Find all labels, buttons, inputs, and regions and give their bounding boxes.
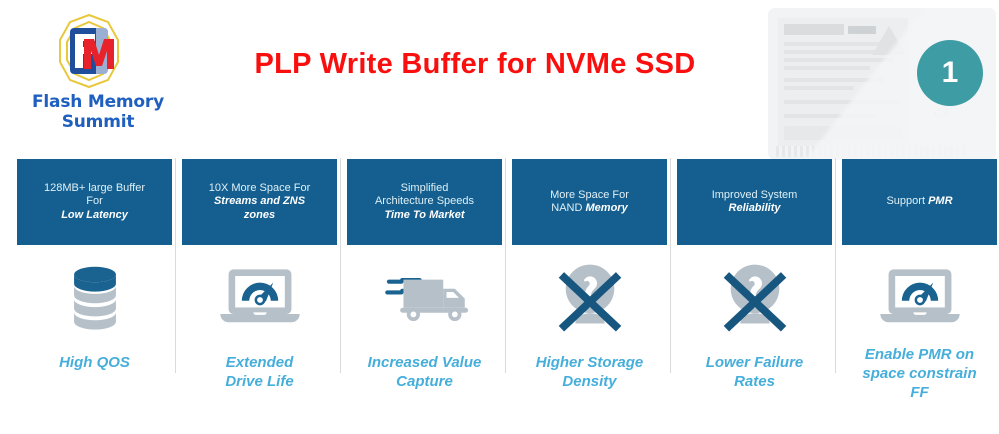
benefit-column-3: Simplified Architecture Speeds Time To M… — [343, 155, 506, 434]
benefit-line-emphasis: PMR — [928, 195, 952, 207]
question-mark-crossed-out-icon — [512, 253, 667, 341]
benefit-line-emphasis: Reliability — [729, 202, 781, 214]
benefit-line: Simplified — [401, 182, 449, 194]
brand-logo: Flash Memory Summit — [8, 8, 188, 118]
benefit-header-6: Support PMR — [842, 159, 997, 245]
benefit-line: Architecture Speeds — [375, 195, 474, 207]
benefit-line-emphasis: Memory — [586, 202, 628, 214]
benefit-line: 10X More Space For — [209, 182, 311, 194]
benefit-column-6: Support PMR Enable PMR on space constrai… — [838, 155, 999, 434]
benefit-column-5: Improved System Reliability Lower Failur… — [673, 155, 836, 434]
question-mark-crossed-out-icon — [677, 253, 832, 341]
benefit-header-2: 10X More Space For Streams and ZNS zones — [182, 159, 337, 245]
benefit-line: More Space For — [550, 189, 629, 201]
benefit-caption-1: High QOS — [13, 353, 176, 372]
benefit-caption-6: Enable PMR on space constrain FF — [838, 345, 999, 403]
benefit-line-emphasis: Low Latency — [61, 209, 128, 221]
benefit-caption-2: Extended Drive Life — [178, 353, 341, 391]
delivery-truck-icon — [347, 253, 502, 341]
benefit-header-4: More Space For NAND Memory — [512, 159, 667, 245]
benefit-caption-4: Higher Storage Density — [508, 353, 671, 391]
database-stack-icon — [17, 253, 172, 341]
benefit-header-1: 128MB+ large Buffer For Low Latency — [17, 159, 172, 245]
benefit-line-emphasis: Time To Market — [384, 209, 464, 221]
benefit-line: Support — [886, 195, 928, 207]
benefit-header-5: Improved System Reliability — [677, 159, 832, 245]
benefit-line: For — [86, 195, 103, 207]
benefit-line-emphasis: zones — [244, 209, 275, 221]
slide-number-badge: 1 — [917, 40, 983, 106]
brand-name: Flash Memory Summit — [8, 92, 188, 132]
page-title: PLP Write Buffer for NVMe SSD — [195, 48, 755, 81]
benefit-column-2: 10X More Space For Streams and ZNS zones… — [178, 155, 341, 434]
benefit-column-1: 128MB+ large Buffer For Low Latency High… — [13, 155, 176, 434]
benefits-row: 128MB+ large Buffer For Low Latency High… — [0, 155, 999, 434]
benefit-caption-5: Lower Failure Rates — [673, 353, 836, 391]
benefit-line: 128MB+ large Buffer — [44, 182, 145, 194]
benefit-column-4: More Space For NAND Memory Higher Storag… — [508, 155, 671, 434]
benefit-line: NAND — [551, 202, 585, 214]
benefit-caption-3: Increased Value Capture — [343, 353, 506, 391]
benefit-line-emphasis: Streams and ZNS — [214, 195, 305, 207]
benefit-header-3: Simplified Architecture Speeds Time To M… — [347, 159, 502, 245]
flash-memory-summit-logo-icon — [50, 12, 128, 90]
laptop-speedometer-icon — [182, 253, 337, 341]
benefit-line: Improved System — [712, 189, 798, 201]
laptop-speedometer-icon — [842, 253, 997, 341]
slide-root: Flash Memory Summit PLP Write Buffer for… — [0, 0, 999, 434]
